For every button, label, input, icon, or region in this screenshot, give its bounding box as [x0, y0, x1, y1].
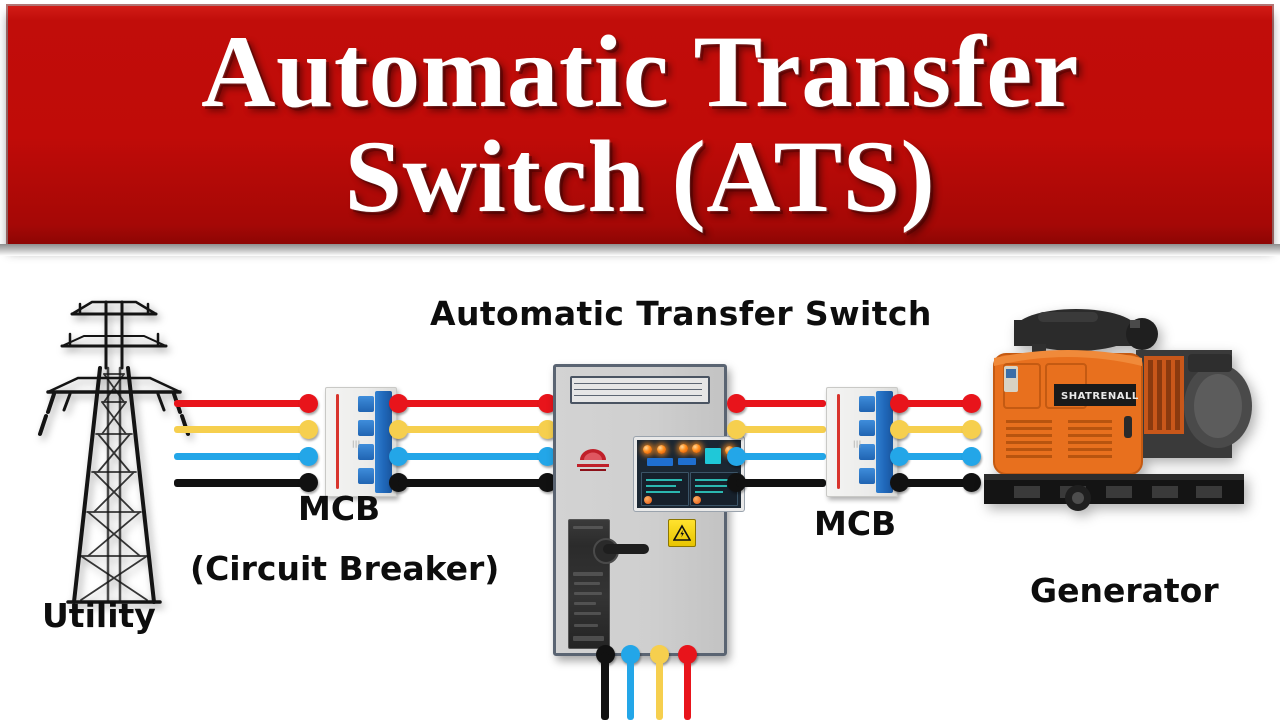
terminal-utility-l1	[299, 394, 318, 413]
mcb-right[interactable]: |||	[826, 387, 898, 497]
mcb-right-pole-2[interactable]	[859, 420, 875, 436]
mcb-left[interactable]: |||	[325, 387, 397, 497]
mcb-right-label: MCB	[814, 504, 896, 543]
mcb-right-pole-1[interactable]	[859, 396, 875, 412]
lcd-readout-right	[705, 448, 721, 464]
wire-mcbR-gen-l1	[899, 400, 971, 407]
mcb-left-pole-4[interactable]	[358, 468, 374, 484]
wire-mcbR-gen-l3	[899, 453, 971, 460]
lcd-readout-mid	[678, 458, 696, 465]
wire-load-l3	[627, 652, 634, 720]
control-knob-right[interactable]	[693, 496, 701, 504]
wire-load-l1	[684, 652, 691, 720]
banner-shadow	[0, 244, 1280, 256]
wire-ats-mcbR-l1	[736, 400, 826, 407]
lcd-readout-left	[647, 458, 673, 466]
wire-mcbR-gen-neutral	[899, 479, 971, 487]
transmission-tower-icon	[34, 284, 194, 614]
wire-load-l2	[656, 652, 663, 720]
wire-ats-mcbR-l2	[736, 426, 826, 433]
wire-mcbL-ats-neutral	[398, 479, 548, 487]
high-voltage-warning-icon	[668, 519, 696, 547]
wire-mcbR-gen-l2	[899, 426, 971, 433]
diesel-generator-icon: SHATRENALL	[968, 298, 1268, 520]
ats-control-panel[interactable]	[634, 437, 744, 511]
wire-mcbL-ats-l3	[398, 453, 548, 460]
page-title-line2: Switch (ATS)	[345, 127, 936, 228]
circuit-breaker-label: (Circuit Breaker)	[190, 549, 499, 588]
indicator-led-1	[643, 445, 652, 454]
wire-mcbL-ats-l1	[398, 400, 548, 407]
page-title-line1: Automatic Transfer	[201, 22, 1079, 123]
wire-utility-l2	[174, 426, 314, 433]
lever-handle[interactable]	[603, 544, 649, 554]
mcb-left-pole-1[interactable]	[358, 396, 374, 412]
terminal-utility-l3	[299, 447, 318, 466]
ats-diagram: Automatic Transfer Switch	[0, 256, 1280, 720]
indicator-led-4	[692, 444, 701, 453]
mcb-right-pole-4[interactable]	[859, 468, 875, 484]
mcb-right-rating-text: |||	[853, 440, 862, 448]
wire-utility-l3	[174, 453, 314, 460]
wire-utility-l1	[174, 400, 314, 407]
indicator-led-3	[679, 444, 688, 453]
wire-mcbL-ats-l2	[398, 426, 548, 433]
mcb-left-pole-2[interactable]	[358, 420, 374, 436]
mcb-left-rating-text: |||	[352, 440, 361, 448]
indicator-led-2	[657, 445, 666, 454]
control-knob-left[interactable]	[644, 496, 652, 504]
svg-text:SHATRENALL: SHATRENALL	[1061, 391, 1139, 402]
mcb-right-indicator-strip	[837, 394, 840, 489]
wire-utility-neutral	[174, 479, 314, 487]
mcb-left-indicator-strip	[336, 394, 339, 489]
ats-ventilation-louvers	[570, 376, 710, 404]
ats-title-label: Automatic Transfer Switch	[430, 294, 932, 333]
wire-load-neutral	[601, 652, 609, 720]
title-banner: Automatic Transfer Switch (ATS)	[8, 6, 1272, 244]
generator-label: Generator	[1030, 571, 1219, 610]
mcb-left-label: MCB	[298, 489, 380, 528]
wire-ats-mcbR-l3	[736, 453, 826, 460]
wire-ats-mcbR-neutral	[736, 479, 826, 487]
utility-label: Utility	[42, 596, 156, 635]
terminal-utility-l2	[299, 420, 318, 439]
ats-manual-lever-module[interactable]	[568, 519, 610, 649]
ats-cabinet[interactable]	[553, 364, 727, 656]
manufacturer-logo-icon	[574, 445, 612, 473]
